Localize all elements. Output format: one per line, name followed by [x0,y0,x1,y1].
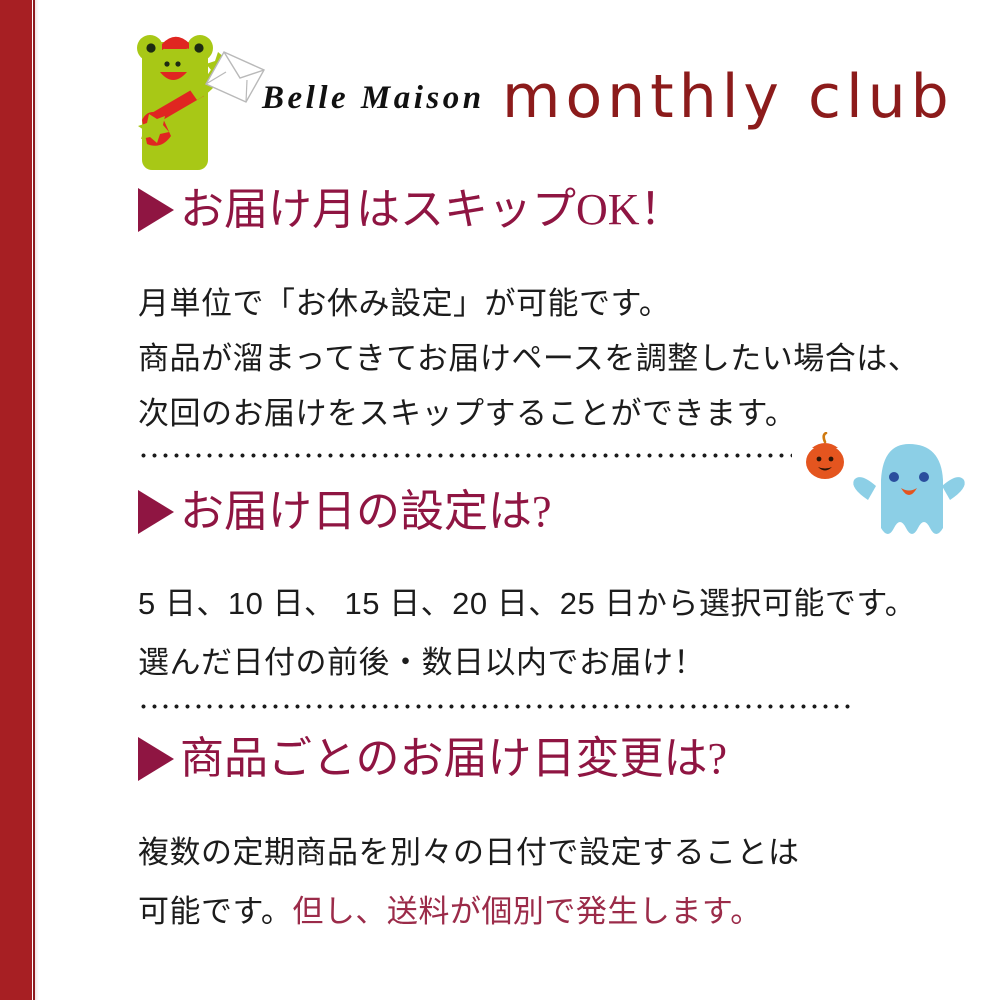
section-per-item-date-change: 商品ごとのお届け日変更は? [138,737,727,781]
monthly-club-info-graphic: Belle Maison monthly club お届け月はスキップOK！ 月… [0,0,1000,1000]
triangle-marker-icon [138,737,174,781]
section-1-heading: お届け月はスキップOK！ [138,188,684,232]
halloween-ghost-icon [850,440,968,557]
section-2-line-2: 選んだ日付の前後・数日以内でお届け！ [138,637,705,682]
section-3-line-2: 可能です。但し、送料が個別で発生します。 [138,886,762,931]
section-delivery-date-setting: お届け日の設定は? [138,490,552,534]
halloween-pumpkin-icon [800,432,850,489]
dotted-divider-1 [138,452,792,459]
brand-wordmark: Belle Maison [262,80,485,117]
section-skip-delivery-month: お届け月はスキップOK！ [138,188,684,232]
header: Belle Maison monthly club [120,28,940,178]
section-2-line-1: 5 日、10 日、 15 日、20 日、25 日から選択可能です。 [138,578,916,623]
monthly-club-title: monthly club [502,62,954,132]
left-rail-soft-edge [35,0,39,1000]
triangle-marker-icon [138,490,174,534]
left-red-rail [0,0,32,1000]
section-1-line-1: 月単位で「お休み設定」が可能です。 [138,278,670,323]
section-3-heading: 商品ごとのお届け日変更は? [138,737,727,781]
triangle-marker-icon [138,188,174,232]
section-1-line-2: 商品が溜まってきてお届けペースを調整したい場合は、 [138,333,919,378]
section-3-line-2-plain: 可能です。 [138,894,292,929]
section-1-line-3: 次回のお届けをスキップすることができます。 [138,388,796,433]
section-2-heading: お届け日の設定は? [138,490,552,534]
section-3-line-1: 複数の定期商品を別々の日付で設定することは [138,827,800,872]
section-3-line-2-accent: 但し、送料が個別で発生します。 [292,894,761,929]
belle-maison-frog-mascot-icon [120,28,270,173]
dotted-divider-2 [138,703,856,710]
